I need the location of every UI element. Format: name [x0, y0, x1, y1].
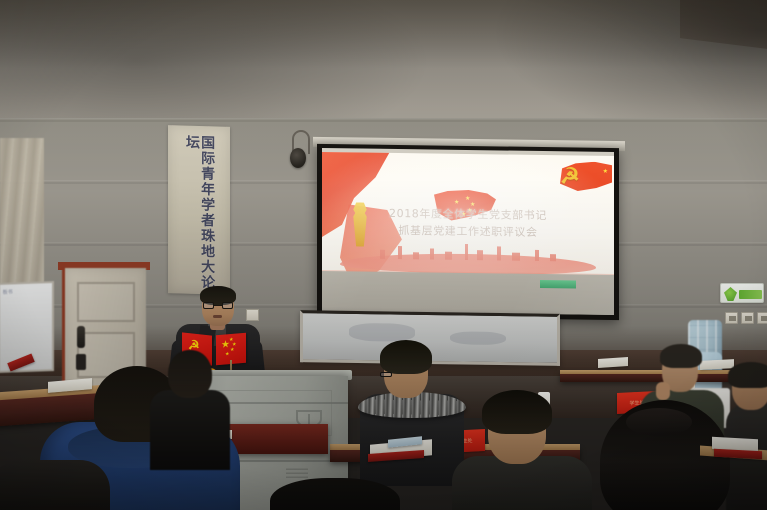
- wall-speaker-icon: [290, 148, 306, 168]
- attendee-far-left: [0, 460, 110, 510]
- wall-banner-text: 国际青年学者珠地大论坛: [184, 135, 214, 295]
- sign-text-band: [739, 290, 762, 299]
- glasses-icon: [203, 302, 233, 309]
- power-socket-3[interactable]: [757, 312, 767, 324]
- attendee-bottom-center: [270, 478, 400, 510]
- taskbar-indicator: [540, 280, 576, 289]
- lecture-hall-photo: 国际青年学者珠地大论坛 ★ ★ ★ ★ ★ ★: [0, 0, 767, 510]
- paper-sheet: [598, 357, 628, 368]
- projection-screen: ★ ★ ★ ★ ★ ★ ☭ 2018年度全体学生党支部书记 抓基层党建工作述职评…: [317, 144, 619, 320]
- whiteboard-writing: 板书: [3, 288, 50, 296]
- power-socket-1[interactable]: [725, 312, 738, 324]
- projected-slide: ★ ★ ★ ★ ★ ★ ☭ 2018年度全体学生党支部书记 抓基层党建工作述职评…: [322, 152, 614, 284]
- slide-title-block: 2018年度全体学生党支部书记 抓基层党建工作述职评议会: [337, 204, 600, 242]
- water-saving-sign: [720, 283, 764, 303]
- power-socket-2[interactable]: [741, 312, 754, 324]
- attendee-dark-left: [150, 350, 230, 460]
- leaf-icon: [724, 287, 737, 301]
- slide-title-line-1: 2018年度全体学生党支部书记: [389, 207, 547, 222]
- attendee-glasses-front: [452, 396, 592, 510]
- window-curtain: [0, 138, 44, 288]
- red-book: [7, 353, 34, 371]
- hammer-sickle-icon: ☭: [560, 165, 586, 189]
- screen-unlit-area: [322, 271, 614, 315]
- audience-area: 学生处 学生处: [0, 330, 767, 510]
- glasses-icon: [380, 372, 392, 377]
- slide-title-line-2: 抓基层党建工作述职评议会: [337, 221, 600, 242]
- wall-banner-sign: 国际青年学者珠地大论坛: [168, 125, 230, 295]
- slide-party-flag-group: ★ ☭: [552, 157, 608, 200]
